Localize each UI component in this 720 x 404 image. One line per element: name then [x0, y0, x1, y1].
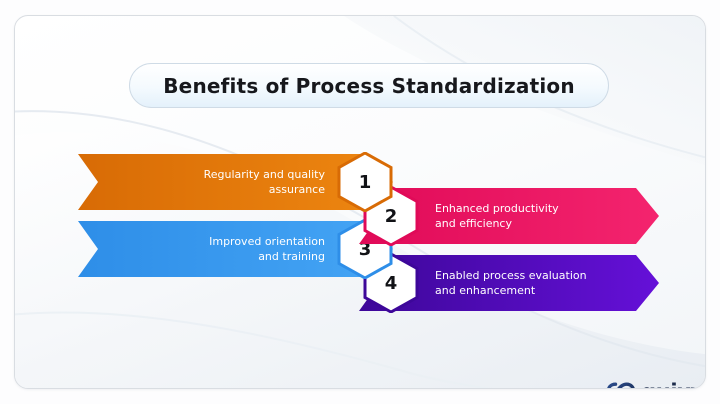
benefit-label-1: Regularity and quality assurance — [170, 154, 325, 210]
brand-name: quixy — [641, 380, 704, 389]
page-title: Benefits of Process Standardization — [163, 74, 575, 98]
benefit-label-2: Enhanced productivity and efficiency — [435, 188, 589, 244]
brand-logo: quixy — [607, 380, 704, 389]
content-card: Benefits of Process Standardization Regu… — [14, 15, 706, 389]
title-pill: Benefits of Process Standardization — [129, 63, 609, 108]
benefit-banner-3[interactable]: Improved orientation and training 3 — [78, 221, 393, 277]
benefit-number-badge-1: 1 — [335, 152, 395, 212]
benefit-banner-1[interactable]: Regularity and quality assurance 1 — [78, 154, 393, 210]
infographic-canvas: Benefits of Process Standardization Regu… — [0, 0, 720, 404]
benefit-banner-4[interactable]: Enabled process evaluation and enhanceme… — [359, 255, 659, 311]
benefit-label-4: Enabled process evaluation and enhanceme… — [435, 255, 589, 311]
benefit-number-1: 1 — [335, 152, 395, 212]
infinity-knot-icon — [607, 381, 635, 389]
benefit-label-3: Improved orientation and training — [170, 221, 325, 277]
benefit-banner-2[interactable]: Enhanced productivity and efficiency 2 — [359, 188, 659, 244]
